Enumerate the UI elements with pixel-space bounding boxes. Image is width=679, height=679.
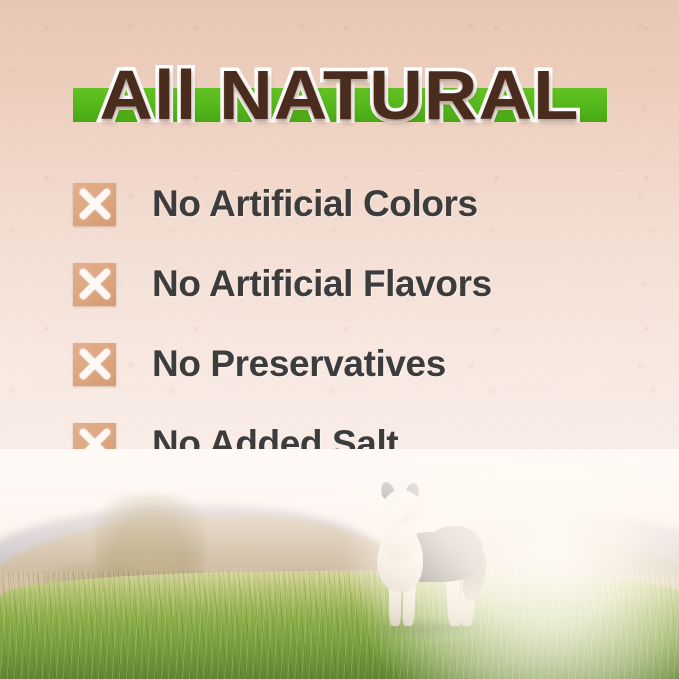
dog-in-field-photo — [0, 449, 679, 679]
page-title: All NATURAL — [0, 52, 679, 138]
product-claims-poster: All NATURAL No Artificial Colors No Arti… — [0, 0, 679, 679]
dog-muzzle — [381, 506, 403, 523]
list-item: No Artificial Flavors — [73, 258, 613, 310]
border-collie-dog — [355, 482, 490, 627]
dog-back — [425, 526, 483, 564]
list-item: No Artificial Colors — [73, 178, 613, 230]
grass-field — [0, 571, 679, 679]
grass-blade-texture — [0, 571, 679, 679]
headline-block: All NATURAL — [0, 52, 679, 138]
x-mark-icon — [73, 263, 116, 306]
claim-label: No Artificial Flavors — [152, 263, 492, 305]
claim-label: No Preservatives — [152, 343, 446, 385]
x-mark-icon — [73, 343, 116, 386]
claim-label: No Artificial Colors — [152, 183, 478, 225]
x-mark-icon — [73, 183, 116, 226]
dog-back-leg-left — [446, 577, 463, 627]
list-item: No Preservatives — [73, 338, 613, 390]
claims-list: No Artificial Colors No Artificial Flavo… — [73, 178, 613, 470]
